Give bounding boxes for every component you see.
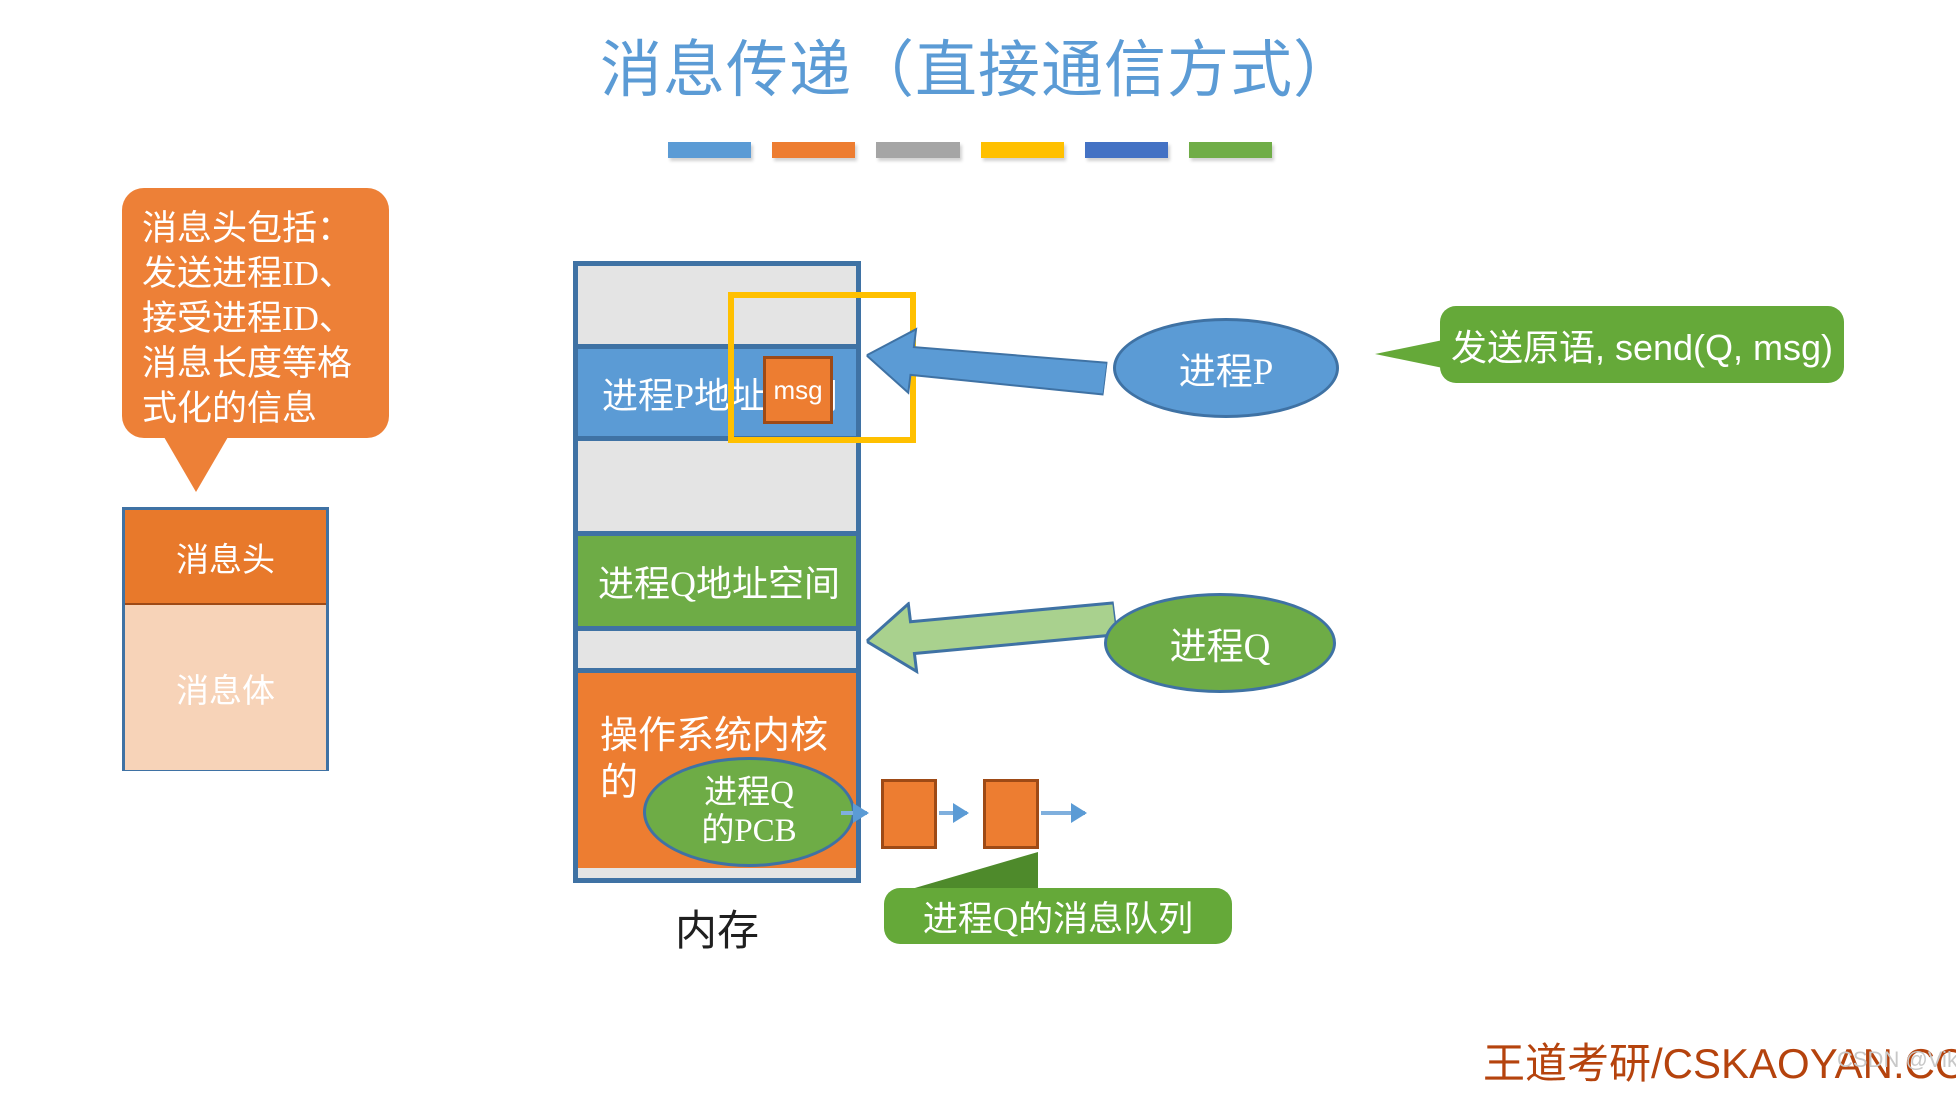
underline-segment-6 (1189, 142, 1272, 158)
process-q-pcb-ellipse: 进程Q 的PCB (643, 757, 855, 867)
memory-caption: 内存 (573, 897, 861, 958)
callout-line-5: 式化的信息 (142, 386, 375, 431)
receive-block-arrow (862, 577, 1119, 681)
pcb-label-line-1: 进程Q (704, 774, 794, 812)
queue-callout: 进程Q的消息队列 (884, 888, 1232, 944)
message-header-callout-tail (164, 437, 228, 492)
underline-segment-2 (772, 142, 855, 158)
underline-segment-3 (876, 142, 959, 158)
message-header-callout: 消息头包括： 发送进程ID、 接受进程ID、 消息长度等格 式化的信息 (122, 188, 389, 438)
queue-message-box-1 (881, 779, 937, 849)
underline-segment-1 (668, 142, 751, 158)
send-primitive-callout: 发送原语, send(Q, msg) (1440, 306, 1844, 383)
callout-line-1: 消息头包括： (142, 206, 375, 251)
message-body-block: 消息体 (125, 605, 326, 770)
callout-line-2: 发送进程ID、 (142, 251, 375, 296)
source-watermark: CSDN @Viktoriae (1837, 1047, 1956, 1073)
process-q-ellipse: 进程Q (1104, 593, 1336, 693)
left-arrow-icon (862, 577, 1119, 681)
send-callout-tail (1375, 340, 1443, 368)
callout-line-3: 接受进程ID、 (142, 296, 375, 341)
queue-message-box-2 (983, 779, 1039, 849)
underline-segment-4 (981, 142, 1064, 158)
page-title: 消息传递（直接通信方式） (0, 34, 1956, 108)
callout-line-4: 消息长度等格 (142, 341, 375, 386)
queue-connector-arrow-2 (1041, 811, 1085, 815)
memory-free-region-3 (578, 631, 856, 668)
queue-connector-arrow-0 (841, 811, 867, 815)
memory-region-process-q: 进程Q地址空间 (578, 531, 856, 631)
message-head-block: 消息头 (125, 510, 326, 605)
title-underline-decoration (668, 142, 1272, 158)
slide-canvas: 消息传递（直接通信方式） 消息头包括： 发送进程ID、 接受进程ID、 消息长度… (0, 0, 1956, 1094)
underline-segment-5 (1085, 142, 1168, 158)
pcb-label-line-2: 的PCB (701, 812, 796, 850)
queue-callout-tail (908, 852, 1038, 890)
memory-free-region-2 (578, 441, 856, 531)
memory-region-process-q-label: 进程Q地址空间 (578, 555, 840, 607)
process-p-ellipse: 进程P (1113, 318, 1339, 418)
message-structure-diagram: 消息头 消息体 (122, 507, 329, 771)
queue-connector-arrow-1 (939, 811, 967, 815)
